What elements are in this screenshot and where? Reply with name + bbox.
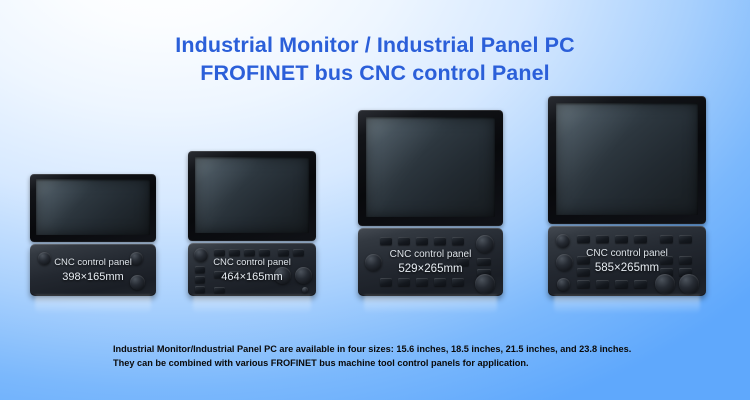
product-unit-2[interactable]: CNC control panel 464×165mm <box>188 151 316 296</box>
page-title: Industrial Monitor / Industrial Panel PC… <box>0 32 750 87</box>
panel-key-2-k[interactable] <box>229 271 240 278</box>
panel-key-4-a[interactable] <box>577 235 590 243</box>
footer-line-1: Industrial Monitor/Industrial Panel PC a… <box>113 343 673 356</box>
unit-reflection-1 <box>35 296 151 314</box>
product-banner: Industrial Monitor / Industrial Panel PC… <box>0 0 750 400</box>
panel-knob-1-b[interactable] <box>130 252 143 265</box>
panel-key-3-m[interactable] <box>452 278 464 286</box>
cnc-control-panel-1[interactable]: CNC control panel 398×165mm <box>30 244 156 296</box>
panel-key-3-g[interactable] <box>477 258 491 265</box>
panel-knob-1-a[interactable] <box>38 252 51 265</box>
panel-key-4-d[interactable] <box>634 235 647 243</box>
title-line-1: Industrial Monitor / Industrial Panel PC <box>0 32 750 60</box>
panel-knob-4-a[interactable] <box>556 234 570 248</box>
panel-knob-3-b[interactable] <box>365 254 382 271</box>
panel-knob-2-a[interactable] <box>194 248 208 262</box>
panel-key-2-d[interactable] <box>259 249 270 256</box>
panel-key-2-g[interactable] <box>195 266 205 273</box>
unit-reflection-4 <box>554 296 699 314</box>
panel-key-2-b[interactable] <box>229 249 240 256</box>
panel-key-3-f[interactable] <box>457 258 469 266</box>
unit-reflection-3 <box>364 296 497 314</box>
monitor-bezel-1 <box>30 174 156 242</box>
panel-knob-2-c[interactable] <box>295 267 312 284</box>
panel-key-2-e[interactable] <box>278 249 289 256</box>
monitor-screen-2 <box>195 157 309 233</box>
panel-key-3-b[interactable] <box>398 237 410 245</box>
unit-reflection-2 <box>193 296 311 314</box>
panel-knob-4-c[interactable] <box>557 278 570 291</box>
panel-key-3-k[interactable] <box>416 278 428 286</box>
monitor-bezel-4 <box>548 96 706 224</box>
panel-key-4-h[interactable] <box>660 256 673 264</box>
panel-key-3-j[interactable] <box>398 278 410 286</box>
panel-knob-2-b[interactable] <box>274 267 291 284</box>
footer-description: Industrial Monitor/Industrial Panel PC a… <box>113 343 673 370</box>
panel-key-3-a[interactable] <box>380 237 392 245</box>
panel-key-4-f[interactable] <box>679 235 692 243</box>
cnc-control-panel-4[interactable]: CNC control panel 585×265mm <box>548 226 706 296</box>
panel-key-2-c[interactable] <box>244 249 255 256</box>
product-unit-1[interactable]: CNC control panel 398×165mm <box>30 174 156 296</box>
panel-key-2-a[interactable] <box>214 249 225 256</box>
cnc-control-panel-3[interactable]: CNC control panel 529×265mm <box>358 228 503 296</box>
panel-key-2-i[interactable] <box>195 286 205 293</box>
panel-key-3-d[interactable] <box>434 237 446 245</box>
panel-key-4-n[interactable] <box>596 280 609 288</box>
panel-key-4-c[interactable] <box>615 235 628 243</box>
panel-knob-2-d[interactable] <box>302 287 308 293</box>
panel-keys-1 <box>30 244 156 296</box>
panel-keys-3 <box>358 228 503 296</box>
product-unit-3[interactable]: CNC control panel 529×265mm <box>358 110 503 296</box>
panel-key-3-i[interactable] <box>380 278 392 286</box>
cnc-control-panel-2[interactable]: CNC control panel 464×165mm <box>188 243 316 296</box>
panel-key-2-h[interactable] <box>195 276 205 283</box>
panel-key-4-p[interactable] <box>634 280 647 288</box>
product-unit-4[interactable]: CNC control panel 585×265mm <box>548 96 706 296</box>
panel-key-2-j[interactable] <box>214 271 225 278</box>
panel-key-2-l[interactable] <box>214 287 225 293</box>
panel-knob-3-a[interactable] <box>476 235 494 253</box>
panel-key-4-e[interactable] <box>660 235 673 243</box>
panel-key-4-b[interactable] <box>596 235 609 243</box>
panel-knob-3-c[interactable] <box>475 274 495 294</box>
panel-key-4-i[interactable] <box>679 256 692 264</box>
monitor-bezel-2 <box>188 151 316 241</box>
monitor-screen-4 <box>556 103 698 215</box>
panel-key-4-m[interactable] <box>577 280 590 288</box>
panel-key-3-e[interactable] <box>452 237 464 245</box>
panel-knob-1-c[interactable] <box>130 275 145 290</box>
panel-keys-2 <box>188 243 316 296</box>
panel-key-3-c[interactable] <box>416 237 428 245</box>
title-line-2: FROFINET bus CNC control Panel <box>0 60 750 88</box>
panel-knob-4-b[interactable] <box>556 254 573 271</box>
panel-key-3-l[interactable] <box>434 278 446 286</box>
panel-key-4-j[interactable] <box>577 268 590 276</box>
panel-key-4-o[interactable] <box>615 280 628 288</box>
monitor-screen-3 <box>366 117 495 217</box>
panel-knob-4-d[interactable] <box>655 274 675 294</box>
panel-key-2-f[interactable] <box>293 249 304 256</box>
panel-key-4-g[interactable] <box>577 256 590 264</box>
panel-knob-4-e[interactable] <box>679 274 699 294</box>
panel-keys-4 <box>548 226 706 296</box>
monitor-screen-1 <box>36 179 150 235</box>
monitor-bezel-3 <box>358 110 503 226</box>
footer-line-2: They can be combined with various FROFIN… <box>113 357 673 370</box>
